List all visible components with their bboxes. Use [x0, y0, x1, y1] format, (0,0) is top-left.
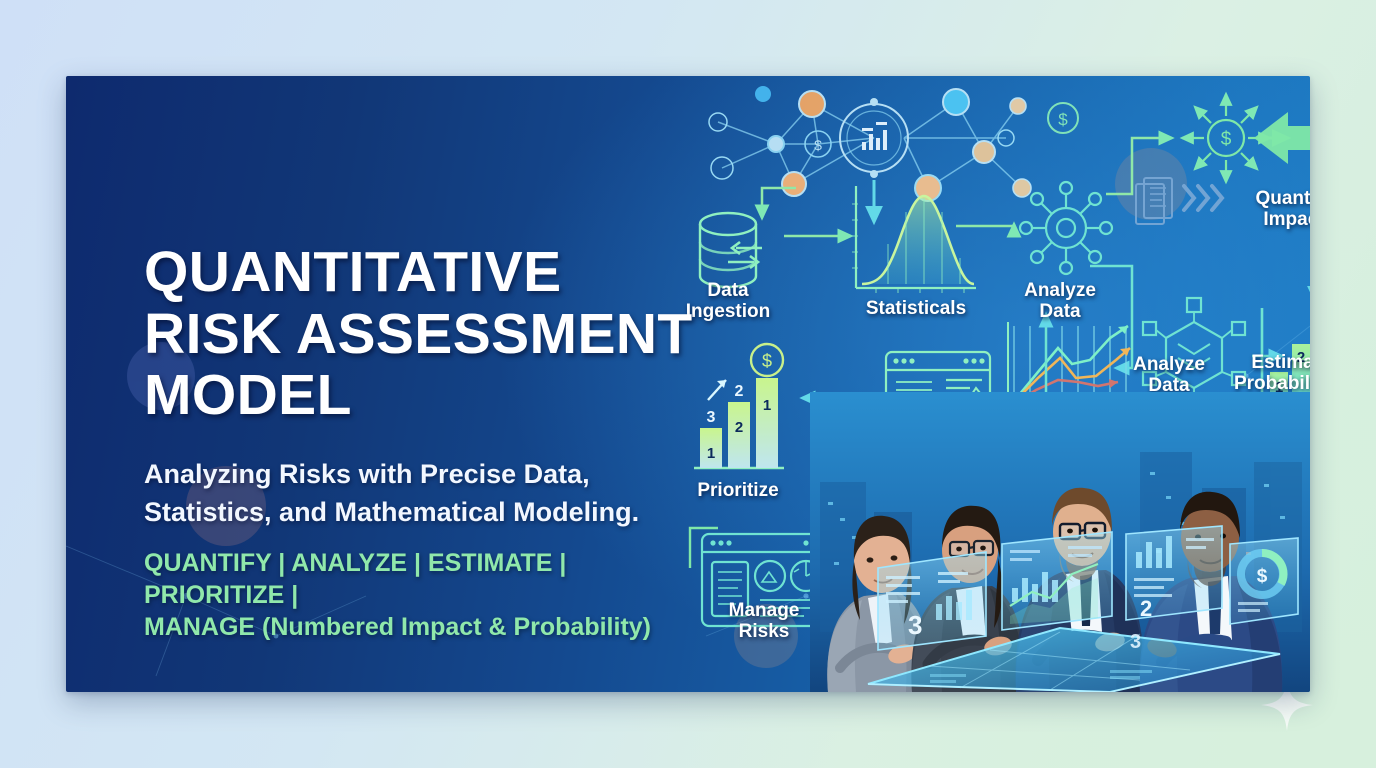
hologram-panel-2: [1002, 532, 1112, 630]
gear-network-icon: [1020, 182, 1112, 274]
hologram-panel-3: 2: [1126, 526, 1222, 621]
svg-text:1: 1: [763, 397, 771, 414]
svg-text:$: $: [1257, 566, 1268, 587]
hologram-number-1: 3: [908, 610, 922, 640]
svg-text:$: $: [814, 137, 822, 153]
banner-card: QUANTITATIVE RISK ASSESSMENT MODEL Analy…: [66, 76, 1310, 692]
subtitle-line-1: Analyzing Risks with Precise Data,: [144, 455, 704, 493]
dollar-coin-icon: $: [751, 344, 783, 376]
subtitle: Analyzing Risks with Precise Data, Stati…: [144, 455, 704, 532]
svg-text:2: 2: [735, 419, 743, 436]
node-label-quantify-impact: Quantify Impact: [1214, 188, 1310, 231]
hologram-panel-4: $: [1230, 538, 1298, 624]
svg-text:1: 1: [707, 445, 715, 462]
quantify-impact-arrows: [1254, 110, 1310, 184]
team-photo: 3: [810, 392, 1310, 692]
node-label-analyze-data-top: Analyze Data: [980, 280, 1140, 323]
tagline-line-2: MANAGE (Numbered Impact & Probability): [144, 611, 704, 643]
hologram-number-3: 3: [1130, 631, 1141, 653]
team-photo-illustration: 3: [810, 392, 1310, 692]
bell-curve-icon: [852, 186, 976, 293]
title-line-3: MODEL: [144, 365, 704, 427]
hero-text-block: QUANTITATIVE RISK ASSESSMENT MODEL Analy…: [144, 242, 704, 643]
svg-text:$: $: [1221, 129, 1232, 150]
dollar-coin-icon: $: [1048, 103, 1078, 133]
ranked-bar-chart-icon: 121 32 $: [694, 344, 784, 468]
title-line-1: QUANTITATIVE: [144, 242, 704, 304]
tagline-line-1: QUANTIFY | ANALYZE | ESTIMATE | PRIORITI…: [144, 547, 704, 611]
tagline: QUANTIFY | ANALYZE | ESTIMATE | PRIORITI…: [144, 547, 704, 643]
svg-text:3: 3: [707, 409, 716, 426]
documents-chevrons-icon: [1136, 178, 1222, 224]
page-title: QUANTITATIVE RISK ASSESSMENT MODEL: [144, 242, 704, 427]
database-cylinder-icon: [700, 213, 762, 287]
subtitle-line-2: Statistics, and Mathematical Modeling.: [144, 493, 704, 531]
hologram-number-2: 2: [1140, 596, 1152, 621]
svg-text:$: $: [1058, 110, 1068, 129]
svg-text:$: $: [762, 351, 772, 371]
title-line-2: RISK ASSESSMENT: [144, 304, 704, 366]
node-network-graph-icon: $ $: [709, 86, 1078, 201]
hologram-panel-1: 3: [878, 552, 986, 650]
svg-text:2: 2: [735, 383, 744, 400]
node-label-estimate-probabilities: Estimate Probabilities: [1196, 352, 1310, 395]
